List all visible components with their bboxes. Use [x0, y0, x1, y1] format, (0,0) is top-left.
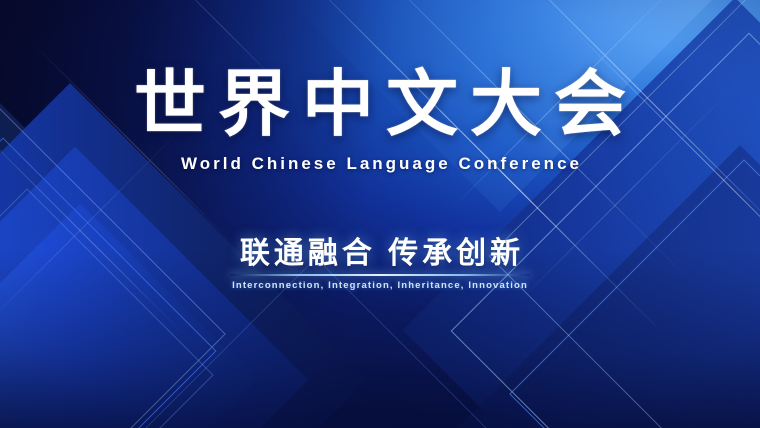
- slogan-glow-divider: [230, 274, 530, 276]
- subtitle-english: World Chinese Language Conference: [178, 154, 582, 174]
- slogan-english: Interconnection, Integration, Inheritanc…: [232, 280, 528, 291]
- poster-content: 世界中文大会 World Chinese Language Conference…: [0, 0, 760, 428]
- main-title-chinese: 世界中文大会: [122, 66, 638, 144]
- slogan-chinese: 联通融合 传承创新: [236, 236, 524, 272]
- conference-poster: 世界中文大会 World Chinese Language Conference…: [0, 0, 760, 428]
- slogan-block: 联通融合 传承创新 Interconnection, Integration, …: [230, 236, 530, 291]
